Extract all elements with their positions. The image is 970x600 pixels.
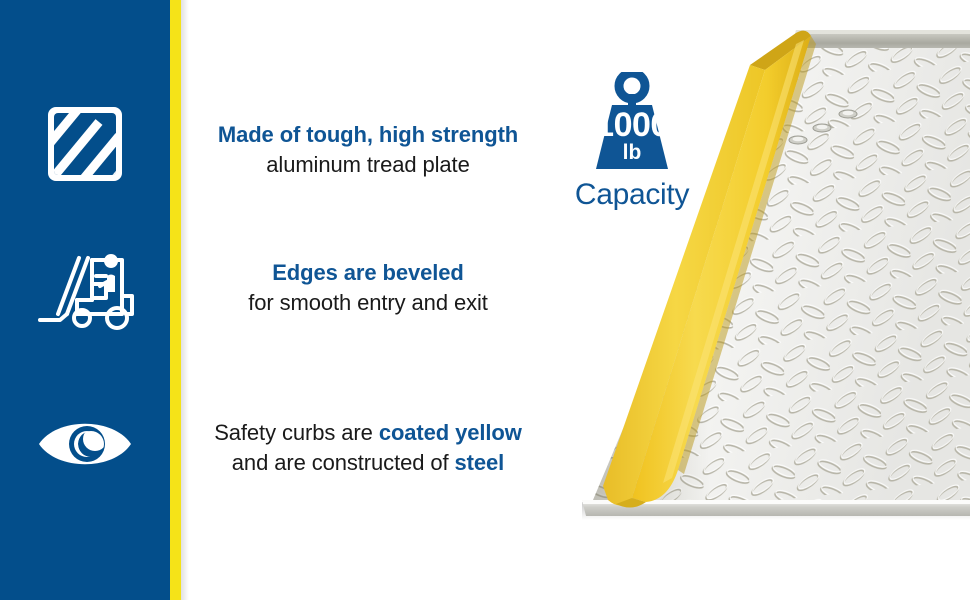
feature-2-bold: Edges are beveled — [272, 260, 464, 285]
feature-item-material: Made of tough, high strength aluminum tr… — [190, 120, 546, 180]
feature-line-2: aluminum tread plate — [190, 150, 546, 180]
product-image — [560, 0, 970, 600]
sidebar-item-forklift — [0, 248, 170, 340]
feature-line-1: Edges are beveled — [190, 258, 546, 288]
feature-item-beveled-edges: Edges are beveled for smooth entry and e… — [190, 258, 546, 318]
accent-stripe — [170, 0, 181, 600]
feature-2-plain: for smooth entry and exit — [248, 290, 488, 315]
infographic-canvas: Made of tough, high strength aluminum tr… — [0, 0, 970, 600]
feature-3-plain-b: and are constructed of — [232, 450, 455, 475]
feature-line-2: for smooth entry and exit — [190, 288, 546, 318]
sidebar-item-visibility — [0, 400, 170, 492]
feature-3-bold-b: steel — [455, 450, 505, 475]
stripe-shadow — [181, 0, 189, 600]
feature-item-safety-curbs: Safety curbs are coated yellow and are c… — [190, 418, 546, 478]
feature-1-plain: aluminum tread plate — [266, 152, 469, 177]
feature-line-1: Made of tough, high strength — [190, 120, 546, 150]
forklift-icon — [36, 252, 134, 337]
feature-1-bold: Made of tough, high strength — [218, 122, 518, 147]
feature-line-2: and are constructed of steel — [190, 448, 546, 478]
feature-line-1: Safety curbs are coated yellow — [190, 418, 546, 448]
feature-3-bold-a: coated yellow — [379, 420, 522, 445]
feature-3-plain-a: Safety curbs are — [214, 420, 379, 445]
tread-plate-icon — [45, 104, 125, 189]
sidebar-item-tread-plate — [0, 100, 170, 192]
eye-icon — [35, 413, 135, 480]
